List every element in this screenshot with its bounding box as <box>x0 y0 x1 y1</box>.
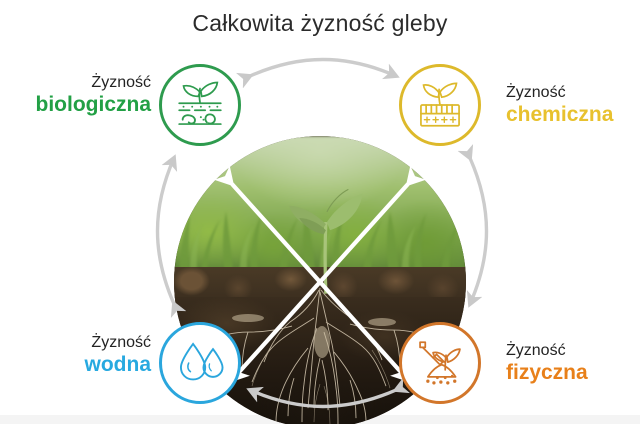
shovel-soil-mound-sprout-icon <box>414 337 466 389</box>
node-biological[interactable] <box>159 64 241 146</box>
label-chemical-top: Żyzność <box>506 84 636 103</box>
node-physical[interactable] <box>399 322 481 404</box>
node-water[interactable] <box>159 322 241 404</box>
arc-left <box>158 158 175 304</box>
sprout-soil-nutrients-icon <box>414 79 466 131</box>
label-biological: Żyzność biologiczna <box>8 74 151 118</box>
label-physical-top: Żyzność <box>506 342 636 361</box>
arc-bottom <box>250 390 396 407</box>
label-water-top: Żyzność <box>8 334 151 353</box>
node-chemical[interactable] <box>399 64 481 146</box>
label-chemical: Żyzność chemiczna <box>506 84 636 128</box>
two-water-drops-icon <box>174 337 226 389</box>
arc-top <box>250 60 396 77</box>
label-biological-bottom: biologiczna <box>8 93 151 118</box>
page-title: Całkowita żyzność gleby <box>0 10 640 37</box>
label-chemical-bottom: chemiczna <box>506 103 636 128</box>
label-biological-top: Żyzność <box>8 74 151 93</box>
label-physical-bottom: fizyczna <box>506 361 636 386</box>
sprout-soil-earthworms-icon <box>174 79 226 131</box>
label-water: Żyzność wodna <box>8 334 151 378</box>
arc-right <box>470 158 487 304</box>
infographic-canvas: Całkowita żyzność gleby <box>0 0 640 424</box>
label-physical: Żyzność fizyczna <box>506 342 636 386</box>
label-water-bottom: wodna <box>8 353 151 378</box>
